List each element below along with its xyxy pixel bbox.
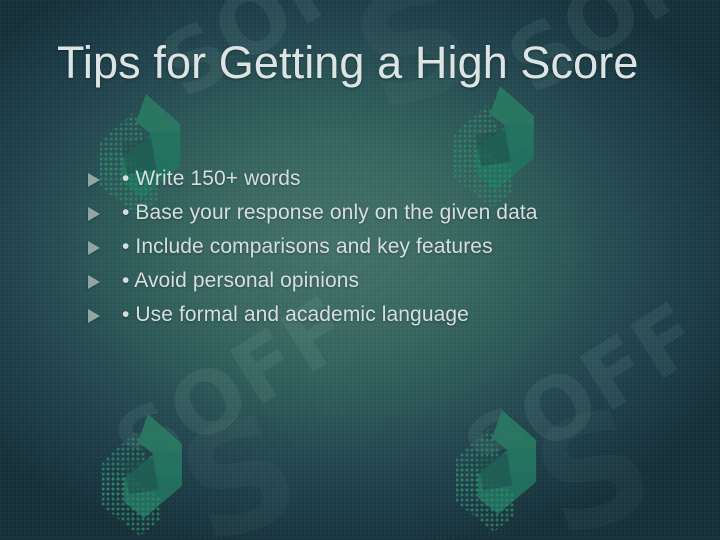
slide-content: Tips for Getting a High Score • Write 15… (0, 0, 720, 540)
page-title: Tips for Getting a High Score (57, 38, 638, 88)
list-item-label: • Include comparisons and key features (122, 234, 493, 260)
list-item-label: • Base your response only on the given d… (122, 200, 538, 226)
list-item: • Base your response only on the given d… (88, 196, 648, 230)
triangle-right-icon (88, 307, 103, 323)
list-item-label: • Use formal and academic language (122, 302, 469, 328)
list-item: • Write 150+ words (88, 162, 648, 196)
bullet-list: • Write 150+ words • Base your response … (88, 162, 648, 332)
list-item: • Avoid personal opinions (88, 264, 648, 298)
list-item: • Include comparisons and key features (88, 230, 648, 264)
triangle-right-icon (88, 205, 103, 221)
slide-canvas: S S S SOFF SOFF SOFF SOFF (0, 0, 720, 540)
triangle-right-icon (88, 239, 103, 255)
list-item-label: • Write 150+ words (122, 166, 301, 192)
list-item-label: • Avoid personal opinions (122, 268, 359, 294)
list-item: • Use formal and academic language (88, 298, 648, 332)
triangle-right-icon (88, 273, 103, 289)
triangle-right-icon (88, 171, 103, 187)
